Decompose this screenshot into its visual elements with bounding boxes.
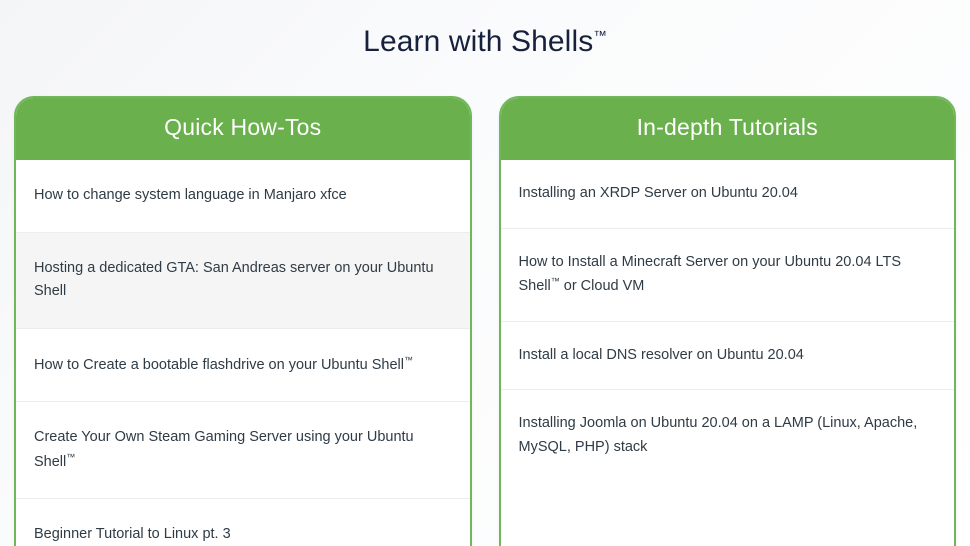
list-item-label: Hosting a dedicated GTA: San Andreas ser… [34,260,434,299]
list-item-label: Installing Joomla on Ubuntu 20.04 on a L… [519,415,918,454]
list-quick-how-tos: How to change system language in Manjaro… [16,160,470,546]
list-item-label: Create Your Own Steam Gaming Server usin… [34,429,414,469]
list-item[interactable]: Installing an XRDP Server on Ubuntu 20.0… [501,160,955,228]
trademark-symbol: ™ [66,452,75,462]
list-item[interactable]: Beginner Tutorial to Linux pt. 3 [16,499,470,546]
list-item[interactable]: Hosting a dedicated GTA: San Andreas ser… [16,233,470,329]
list-item[interactable]: How to change system language in Manjaro… [16,160,470,232]
list-item[interactable]: Install a local DNS resolver on Ubuntu 2… [501,322,955,390]
list-item[interactable]: Create Your Own Steam Gaming Server usin… [16,402,470,499]
list-item-label: How to change system language in Manjaro… [34,187,347,203]
list-item[interactable]: How to Install a Minecraft Server on you… [501,229,955,322]
trademark-symbol: ™ [404,355,413,365]
list-item-label: How to Create a bootable flashdrive on y… [34,357,404,373]
list-item-label-suffix: or Cloud VM [560,278,645,294]
list-item-label: Beginner Tutorial to Linux pt. 3 [34,526,231,542]
list-item[interactable]: How to Create a bootable flashdrive on y… [16,329,470,402]
page-title: Learn with Shells™ [0,0,970,60]
trademark-symbol: ™ [551,276,560,286]
list-item-label: Installing an XRDP Server on Ubuntu 20.0… [519,185,798,201]
list-item-label: Install a local DNS resolver on Ubuntu 2… [519,347,804,363]
card-header-quick-how-tos: Quick How-Tos [15,97,471,160]
card-grid: Quick How-Tos How to change system langu… [0,96,970,546]
list-in-depth-tutorials: Installing an XRDP Server on Ubuntu 20.0… [501,160,955,481]
page-title-text: Learn with Shells [363,25,593,58]
card-quick-how-tos: Quick How-Tos How to change system langu… [14,96,472,546]
card-header-in-depth-tutorials: In-depth Tutorials [500,97,956,160]
trademark-symbol: ™ [593,28,607,43]
card-in-depth-tutorials: In-depth Tutorials Installing an XRDP Se… [499,96,957,546]
list-item[interactable]: Installing Joomla on Ubuntu 20.04 on a L… [501,390,955,481]
